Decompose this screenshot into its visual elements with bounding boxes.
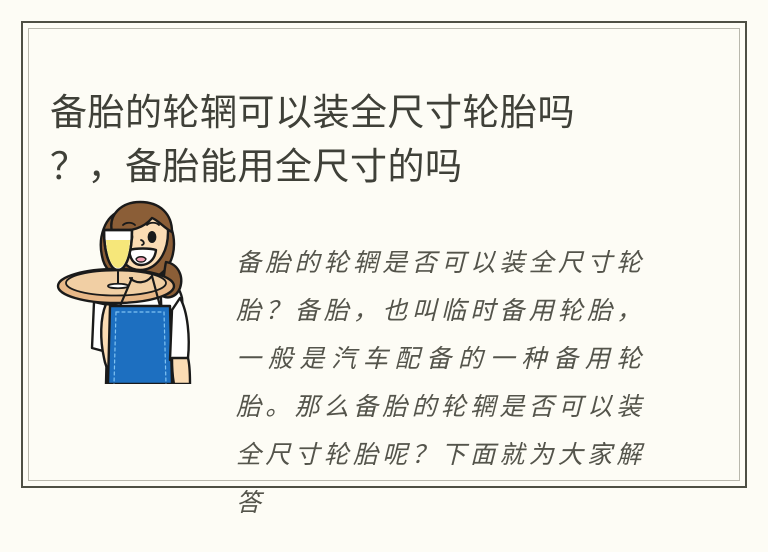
waitress-with-tray-illustration — [48, 198, 200, 384]
page-title: 备胎的轮辋可以装全尺寸轮胎吗 ？，备胎能用全尺寸的吗 — [50, 86, 650, 194]
article-body: 备胎的轮辋是否可以装全尺寸轮胎？备胎，也叫临时备用轮胎，一般是汽车配备的一种备用… — [236, 214, 644, 552]
article-card-page: 备胎的轮辋可以装全尺寸轮胎吗 ？，备胎能用全尺寸的吗 — [0, 0, 768, 510]
article-paragraph: 备胎的轮辋是否可以装全尺寸轮胎？备胎，也叫临时备用轮胎，一般是汽车配备的一种备用… — [236, 239, 644, 527]
